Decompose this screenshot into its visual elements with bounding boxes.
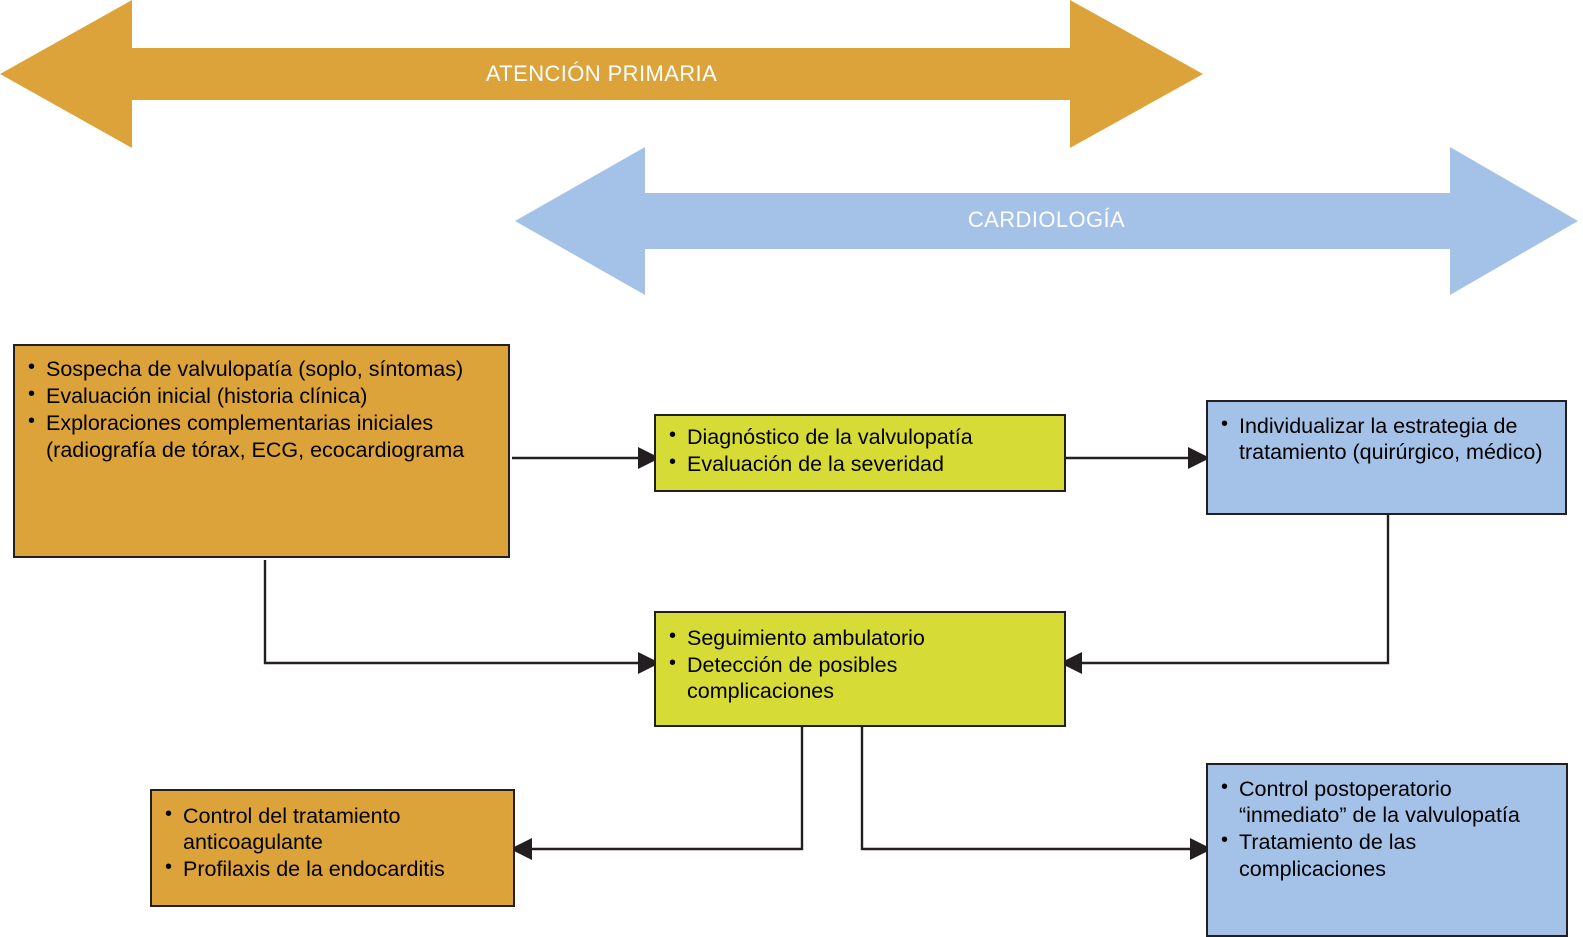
node-anticoagulante[interactable]: Control del tratamiento anticoagulante P… — [150, 789, 515, 907]
node-seguimiento-item: Seguimiento ambulatorio — [668, 625, 1050, 651]
node-sospecha-item: Sospecha de valvulopatía (soplo, síntoma… — [27, 356, 494, 382]
node-seguimiento[interactable]: Seguimiento ambulatorio Detección de pos… — [654, 611, 1066, 727]
node-postoperatorio-item: Tratamiento de las complicaciones — [1220, 829, 1552, 881]
node-sospecha[interactable]: Sospecha de valvulopatía (soplo, síntoma… — [13, 344, 510, 558]
node-individualizar[interactable]: Individualizar la estrategia de tratamie… — [1206, 400, 1567, 515]
diagram-canvas: ATENCIÓN PRIMARIA CARDIOLOGÍA Sospecha d… — [0, 0, 1583, 937]
node-postoperatorio-item: Control postoperatorio “inmediato” de la… — [1220, 776, 1552, 828]
band-label-cardiologia: CARDIOLOGÍA — [515, 207, 1578, 233]
node-individualizar-item: Individualizar la estrategia de tratamie… — [1220, 413, 1551, 465]
node-anticoagulante-item: Control del tratamiento anticoagulante — [164, 803, 499, 855]
node-postoperatorio[interactable]: Control postoperatorio “inmediato” de la… — [1206, 763, 1568, 937]
node-sospecha-item: Exploraciones complementarias iniciales … — [27, 410, 494, 462]
node-diagnostico[interactable]: Diagnóstico de la valvulopatía Evaluació… — [654, 414, 1066, 492]
node-sospecha-item: Evaluación inicial (historia clínica) — [27, 383, 494, 409]
node-seguimiento-item: Detección de posibles complicaciones — [668, 652, 1050, 704]
node-diagnostico-item: Evaluación de la severidad — [668, 451, 1050, 477]
node-anticoagulante-item: Profilaxis de la endocarditis — [164, 856, 499, 882]
band-label-atencion-primaria: ATENCIÓN PRIMARIA — [0, 61, 1203, 87]
node-diagnostico-item: Diagnóstico de la valvulopatía — [668, 424, 1050, 450]
